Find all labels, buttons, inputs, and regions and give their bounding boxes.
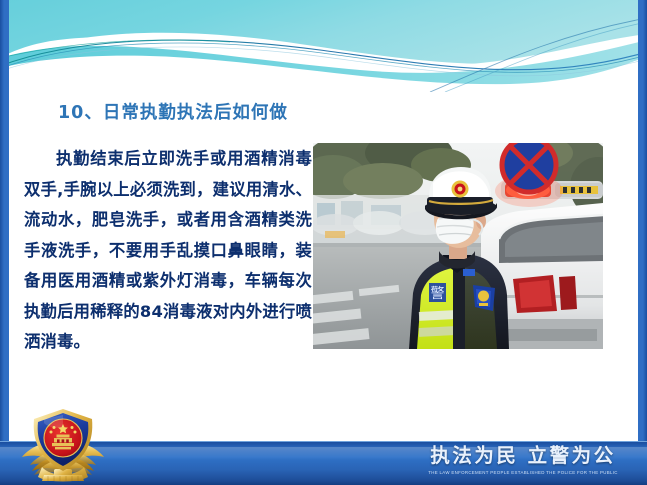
footer-slogan-cn: 执法为民 立警为公 — [413, 445, 633, 467]
right-edge-band — [638, 0, 647, 485]
svg-text:警: 警 — [431, 286, 445, 302]
page-title: 10、日常执勤执法后如何做 — [58, 99, 288, 124]
left-edge-band — [0, 0, 9, 485]
slide-canvas: 10、日常执勤执法后如何做 执勤结束后立即洗手或用酒精消毒双手,手腕以上必须洗到… — [0, 0, 647, 485]
police-badge-icon — [14, 407, 112, 483]
body-paragraph: 执勤结束后立即洗手或用酒精消毒双手,手腕以上必须洗到，建议用清水、流动水，肥皂洗… — [24, 144, 312, 358]
footer-slogan: 执法为民 立警为公 THE LAW ENFORCEMENT PEOPLE EST… — [413, 445, 633, 477]
header-wave-decoration — [0, 0, 647, 92]
footer-slogan-en: THE LAW ENFORCEMENT PEOPLE ESTABLISHED T… — [413, 469, 633, 477]
officer-photo: 警 — [313, 143, 603, 349]
